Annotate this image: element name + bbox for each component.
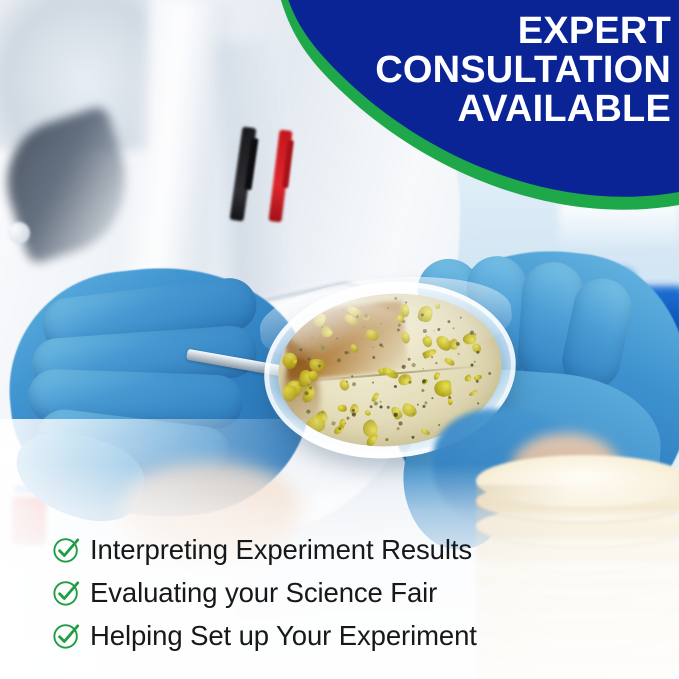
headline: EXPERT CONSULTATION AVAILABLE <box>211 12 671 128</box>
headline-line-2: CONSULTATION <box>211 51 671 90</box>
list-item-label: Interpreting Experiment Results <box>90 534 472 566</box>
check-circle-icon <box>52 578 81 607</box>
shelf-highlight <box>559 200 679 246</box>
coat-button <box>8 222 30 244</box>
benefits-list: Interpreting Experiment Results Evaluati… <box>52 528 652 657</box>
list-item-label: Helping Set up Your Experiment <box>90 620 477 652</box>
list-item: Helping Set up Your Experiment <box>52 614 652 657</box>
list-item-label: Evaluating your Science Fair <box>90 577 437 609</box>
list-item: Interpreting Experiment Results <box>52 528 652 571</box>
list-item: Evaluating your Science Fair <box>52 571 652 614</box>
promo-banner: EXPERT CONSULTATION AVAILABLE Interpreti… <box>0 0 679 679</box>
check-circle-icon <box>52 535 81 564</box>
check-circle-icon <box>52 621 81 650</box>
headline-line-1: EXPERT <box>211 12 671 51</box>
headline-line-3: AVAILABLE <box>211 90 671 129</box>
